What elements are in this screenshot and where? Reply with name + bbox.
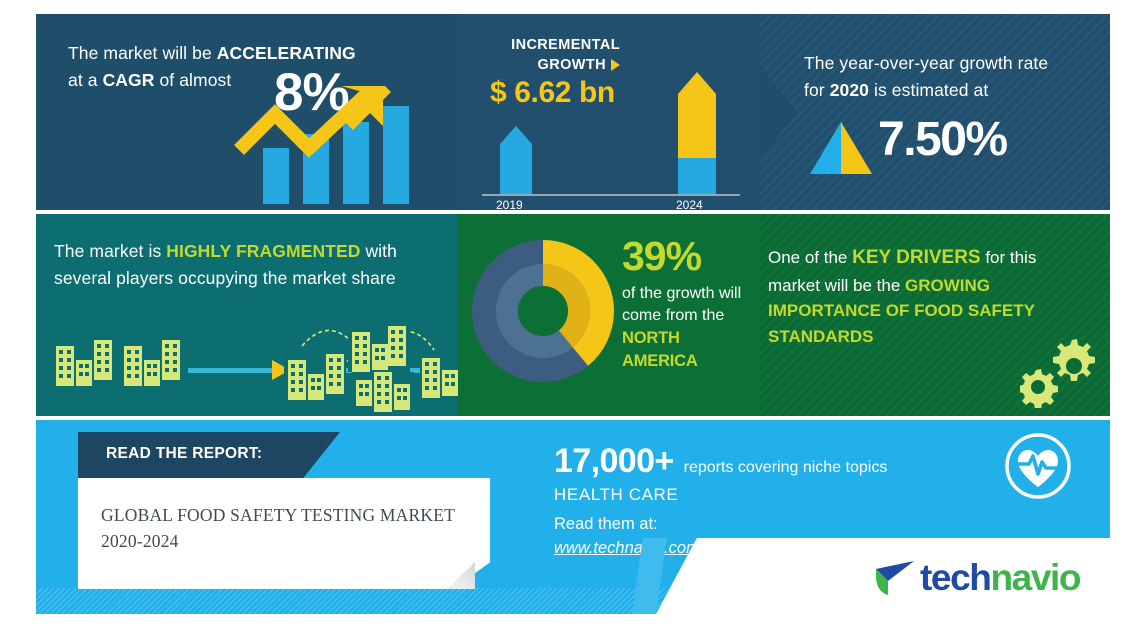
drivers-seg7: STANDARDS xyxy=(768,327,873,346)
incremental-title-line2-wrap: GROWTH xyxy=(511,56,620,76)
drivers-seg4: market will be the xyxy=(768,276,905,295)
incremental-growth-title: INCREMENTAL GROWTH xyxy=(511,36,620,75)
read-the-report-tab[interactable]: READ THE REPORT: xyxy=(78,432,340,478)
report-title: GLOBAL FOOD SAFETY TESTING MARKET 2020-2… xyxy=(101,502,467,555)
incremental-title-line1: INCREMENTAL xyxy=(511,36,620,56)
logo-text: technavio xyxy=(920,557,1080,599)
accelerating-line2-prefix: at a xyxy=(68,70,103,90)
stripe-texture xyxy=(760,14,1110,210)
city-buildings-spread-icon xyxy=(36,322,458,416)
fragmented-line1-suffix: with xyxy=(360,241,396,261)
panel-donut-share: 39% of the growth will come from the NOR… xyxy=(458,214,760,416)
yoy-line2-suffix: is estimated at xyxy=(869,80,988,100)
bar-axis xyxy=(482,194,740,196)
yoy-line2-prefix: for xyxy=(804,80,830,100)
incremental-growth-value: $ 6.62 bn xyxy=(490,76,615,110)
accelerating-cagr: CAGR xyxy=(103,70,155,90)
gears-icon xyxy=(1020,336,1098,408)
panel-accelerating: The market will be ACCELERATING at a CAG… xyxy=(36,14,460,210)
donut-sub-line2: come from the xyxy=(622,307,724,324)
bar-label-2019: 2019 xyxy=(496,198,523,210)
drivers-seg6: IMPORTANCE OF FOOD SAFETY xyxy=(768,301,1035,320)
panel-incremental-growth: INCREMENTAL GROWTH $ 6.62 bn 2019 2024 xyxy=(460,14,760,210)
panel-footer: READ THE REPORT: GLOBAL FOOD SAFETY TEST… xyxy=(36,420,1110,614)
website-link[interactable]: www.technavio.com xyxy=(554,539,700,558)
incremental-title-line2: GROWTH xyxy=(538,57,606,73)
stat-row: 17,000+reports covering niche topics xyxy=(554,442,984,481)
report-card[interactable]: GLOBAL FOOD SAFETY TESTING MARKET 2020-2… xyxy=(78,478,490,589)
fragmented-text: The market is HIGHLY FRAGMENTED with sev… xyxy=(54,238,454,292)
drivers-keyword: KEY DRIVERS xyxy=(852,247,980,268)
drivers-seg5: GROWING xyxy=(905,276,990,295)
paper-plane-icon xyxy=(874,559,916,597)
drivers-seg1: One of the xyxy=(768,248,852,267)
drivers-text: One of the KEY DRIVERS for this market w… xyxy=(768,244,1098,349)
donut-chart xyxy=(468,236,618,386)
report-count-desc: reports covering niche topics xyxy=(684,459,888,477)
donut-percent: 39% xyxy=(622,236,758,277)
accelerating-line1-prefix: The market will be xyxy=(68,43,217,63)
sector-label: HEALTH CARE xyxy=(554,485,984,505)
accelerating-line2-suffix: of almost xyxy=(155,70,232,90)
donut-sub-line1: of the growth will xyxy=(622,285,741,302)
bar-2024 xyxy=(678,72,716,196)
heart-pulse-icon xyxy=(1002,430,1074,502)
read-the-report-label: READ THE REPORT: xyxy=(106,445,262,463)
donut-text: 39% of the growth will come from the NOR… xyxy=(622,236,758,373)
yoy-year: 2020 xyxy=(830,80,869,100)
bar-2019 xyxy=(500,126,532,196)
triangle-up-icon xyxy=(810,122,872,174)
panel-fragmented: The market is HIGHLY FRAGMENTED with sev… xyxy=(36,214,458,416)
yoy-line1: The year-over-year growth rate xyxy=(804,53,1048,73)
report-count: 17,000+ xyxy=(554,442,674,481)
play-triangle-icon xyxy=(611,59,620,71)
logo-text-tech: tech xyxy=(920,557,990,598)
fragmented-line1-prefix: The market is xyxy=(54,241,166,261)
yoy-value: 7.50% xyxy=(878,116,1007,164)
panel-key-drivers: One of the KEY DRIVERS for this market w… xyxy=(760,214,1110,416)
logo-text-navio: navio xyxy=(990,557,1080,598)
donut-region: NORTH AMERICA xyxy=(622,329,698,370)
read-them-at-label: Read them at: xyxy=(554,515,984,534)
technavio-logo: technavio xyxy=(874,558,1080,598)
panel-yoy-growth: The year-over-year growth rate for 2020 … xyxy=(760,14,1110,210)
accelerating-keyword: ACCELERATING xyxy=(217,43,356,63)
bar-chart-up-arrow-icon xyxy=(231,86,460,206)
fragmented-keyword: HIGHLY FRAGMENTED xyxy=(166,241,360,261)
yoy-text: The year-over-year growth rate for 2020 … xyxy=(804,50,1094,104)
bar-label-2024: 2024 xyxy=(676,198,703,210)
drivers-seg3: for this xyxy=(981,248,1037,267)
infographic-canvas: The market will be ACCELERATING at a CAG… xyxy=(0,0,1140,627)
fragmented-line2: several players occupying the market sha… xyxy=(54,268,396,288)
donut-subtext: of the growth will come from the NORTH A… xyxy=(622,283,758,373)
